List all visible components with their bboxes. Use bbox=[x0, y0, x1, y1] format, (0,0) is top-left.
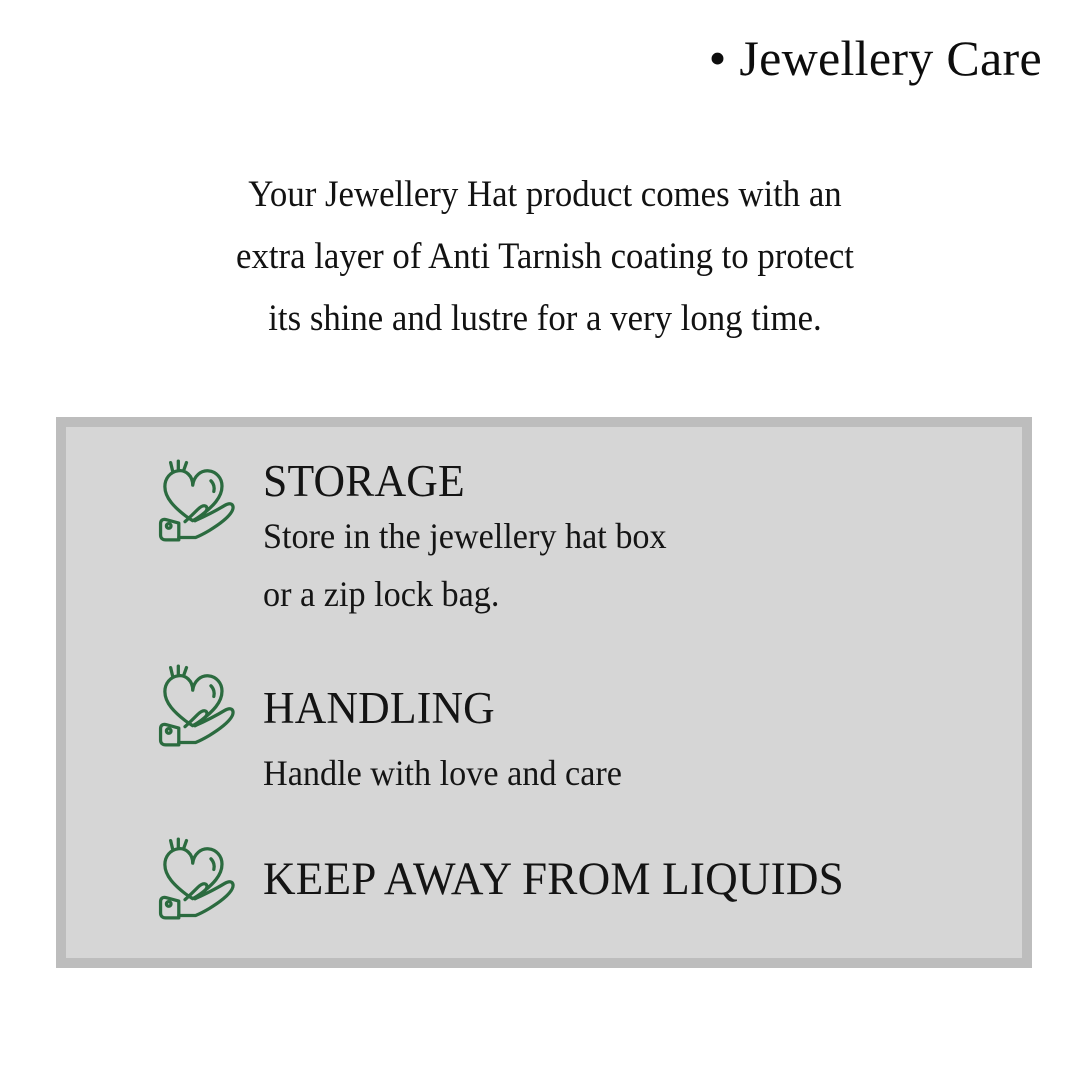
care-desc-line-1: Handle with love and care bbox=[263, 744, 622, 802]
care-item-text: KEEP AWAY FROM LIQUIDS bbox=[263, 831, 868, 905]
care-item-text: STORAGE Store in the jewellery hat box o… bbox=[263, 453, 688, 623]
care-desc-handling: Handle with love and care bbox=[263, 744, 622, 802]
care-item-text: HANDLING Handle with love and care bbox=[263, 658, 641, 802]
intro-line-2: extra layer of Anti Tarnish coating to p… bbox=[99, 226, 992, 288]
intro-line-3: its shine and lustre for a very long tim… bbox=[99, 288, 992, 350]
care-desc-storage: Store in the jewellery hat box or a zip … bbox=[263, 507, 667, 623]
intro-paragraph: Your Jewellery Hat product comes with an… bbox=[99, 164, 992, 350]
intro-line-1: Your Jewellery Hat product comes with an bbox=[99, 164, 992, 226]
care-heading-storage: STORAGE bbox=[263, 455, 675, 507]
care-heading-handling: HANDLING bbox=[263, 682, 630, 734]
hand-holding-heart-icon bbox=[150, 453, 246, 549]
care-desc-line-2: or a zip lock bag. bbox=[263, 565, 667, 623]
care-item-handling: HANDLING Handle with love and care bbox=[150, 658, 641, 802]
page-title: • Jewellery Care bbox=[0, 30, 1042, 88]
care-desc-line-1: Store in the jewellery hat box bbox=[263, 507, 667, 565]
care-item-storage: STORAGE Store in the jewellery hat box o… bbox=[150, 453, 688, 623]
care-heading-keep-away-from-liquids: KEEP AWAY FROM LIQUIDS bbox=[263, 853, 844, 905]
hand-holding-heart-icon bbox=[150, 658, 246, 754]
care-instructions-panel: STORAGE Store in the jewellery hat box o… bbox=[56, 417, 1032, 968]
care-instructions-list: STORAGE Store in the jewellery hat box o… bbox=[66, 427, 1022, 958]
care-item-keep-away-from-liquids: KEEP AWAY FROM LIQUIDS bbox=[150, 831, 868, 927]
hand-holding-heart-icon bbox=[150, 831, 246, 927]
